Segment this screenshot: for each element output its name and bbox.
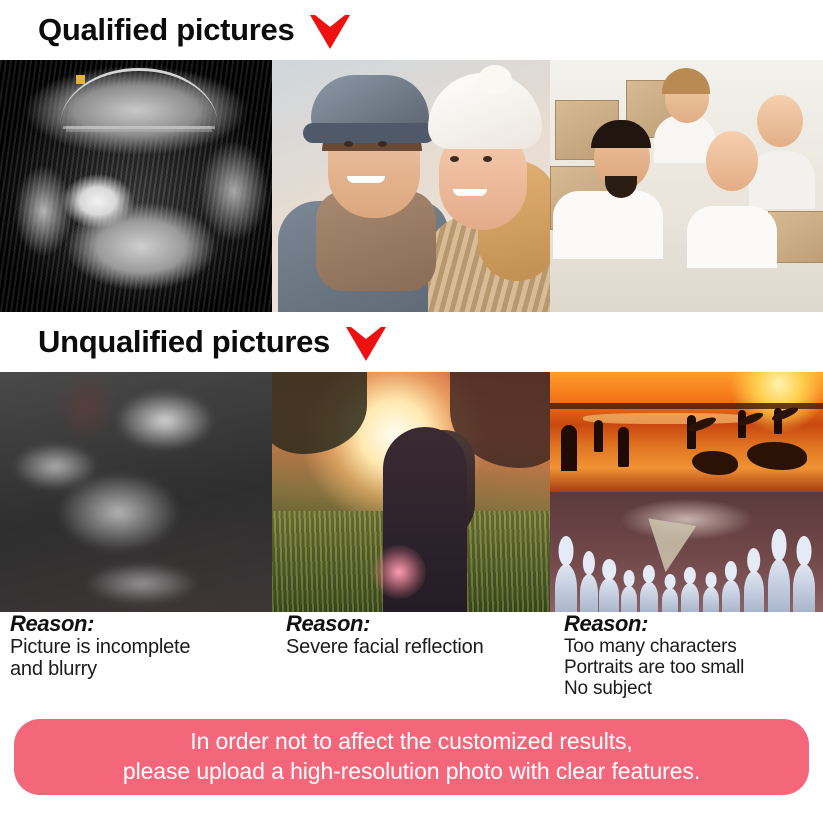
family-image-body: [550, 60, 823, 312]
tree-line-left: [272, 372, 367, 454]
unqualified-section-header: Unqualified pictures: [0, 312, 823, 372]
winter-couple-portrait-photo: [272, 60, 550, 312]
moving-box-4: [768, 211, 823, 263]
ultrasound-marker-icon: [76, 75, 85, 84]
unqualified-photo-row: [0, 372, 823, 612]
reasons-row: Reason: Picture is incomplete and blurry…: [0, 612, 823, 717]
crowd-person: [768, 559, 790, 612]
reason-line: No subject: [564, 678, 823, 699]
girl-face: [757, 95, 803, 147]
crowd-person: [555, 564, 577, 612]
crowd-person: [662, 588, 678, 612]
boy-hair: [662, 68, 710, 94]
photo-guidelines-page: Qualified pictures: [0, 0, 823, 823]
qualified-heading-text: Qualified pictures: [38, 12, 294, 48]
blurry-ultrasound-image-body: [0, 372, 272, 612]
reason-line: and blurry: [10, 658, 272, 680]
mother-face: [706, 131, 758, 191]
reason-line: Portraits are too small: [564, 657, 823, 678]
crowd-person: [703, 587, 719, 612]
surfers-and-crowd-photo-stack: [550, 372, 823, 612]
reason-block-2: Reason: Severe facial reflection: [272, 612, 550, 717]
surfers-sunset-silhouette-photo: [550, 372, 823, 492]
unqualified-heading-text: Unqualified pictures: [38, 324, 330, 360]
reason-label: Reason:: [286, 612, 550, 636]
rock-1: [692, 451, 738, 475]
man-eye-right: [378, 141, 387, 147]
qualified-photo-row: [0, 60, 823, 312]
crowd-person: [681, 583, 699, 612]
reason-line: Severe facial reflection: [286, 636, 550, 658]
fetal-ultrasound-clear-photo: [0, 60, 272, 312]
lens-flare: [372, 545, 426, 599]
crowd-person: [744, 571, 764, 612]
backlit-girl-sunset-photo: [272, 372, 550, 612]
woman-eye-left: [450, 156, 459, 162]
notice-line-2: please upload a high-resolution photo wi…: [123, 757, 700, 787]
reason-line: Picture is incomplete: [10, 636, 272, 658]
woman-smile: [453, 189, 487, 196]
surfer-2: [594, 420, 603, 452]
notice-line-1: In order not to affect the customized re…: [190, 727, 632, 757]
beanie-pompom: [478, 65, 512, 95]
surfer-4: [687, 415, 696, 449]
father-polo: [553, 191, 663, 259]
crowd-person: [640, 582, 658, 612]
surfer-3: [618, 427, 629, 467]
arrow-down-icon: [310, 15, 350, 49]
mother-top: [687, 206, 777, 268]
qualified-section-header: Qualified pictures: [0, 0, 823, 60]
crowd-person: [580, 574, 598, 612]
reason-block-3: Reason: Too many characters Portraits ar…: [550, 612, 823, 717]
woman-eye-right: [483, 156, 492, 162]
crowd-person: [599, 578, 619, 612]
surfer-1: [561, 425, 577, 471]
fetal-ultrasound-blurry-photo: [0, 372, 272, 612]
stage-sail: [648, 518, 696, 572]
reason-label: Reason:: [10, 612, 272, 636]
crowd-person: [722, 580, 740, 612]
reason-text: Picture is incomplete and blurry: [10, 636, 272, 681]
man-cap-brim: [303, 123, 435, 143]
couple-image-body: [272, 60, 550, 312]
reason-block-1: Reason: Picture is incomplete and blurry: [0, 612, 272, 717]
upload-notice-banner: In order not to affect the customized re…: [14, 719, 809, 795]
rock-2: [747, 442, 807, 470]
girl-shirt: [749, 151, 815, 209]
man-smile: [347, 176, 385, 183]
sea-horizon: [550, 403, 823, 409]
reason-label: Reason:: [564, 612, 823, 636]
man-eye-left: [344, 141, 353, 147]
crowd-person: [793, 564, 815, 612]
reason-line: Too many characters: [564, 636, 823, 657]
sandbar: [583, 413, 752, 424]
large-crowd-thermal-photo: [550, 492, 823, 612]
crowd-person: [621, 586, 637, 612]
family-with-moving-boxes-photo: [550, 60, 823, 312]
reason-text: Severe facial reflection: [286, 636, 550, 658]
sunset-field-image-body: [272, 372, 550, 612]
arrow-down-icon: [346, 327, 386, 361]
reason-text: Too many characters Portraits are too sm…: [564, 636, 823, 700]
